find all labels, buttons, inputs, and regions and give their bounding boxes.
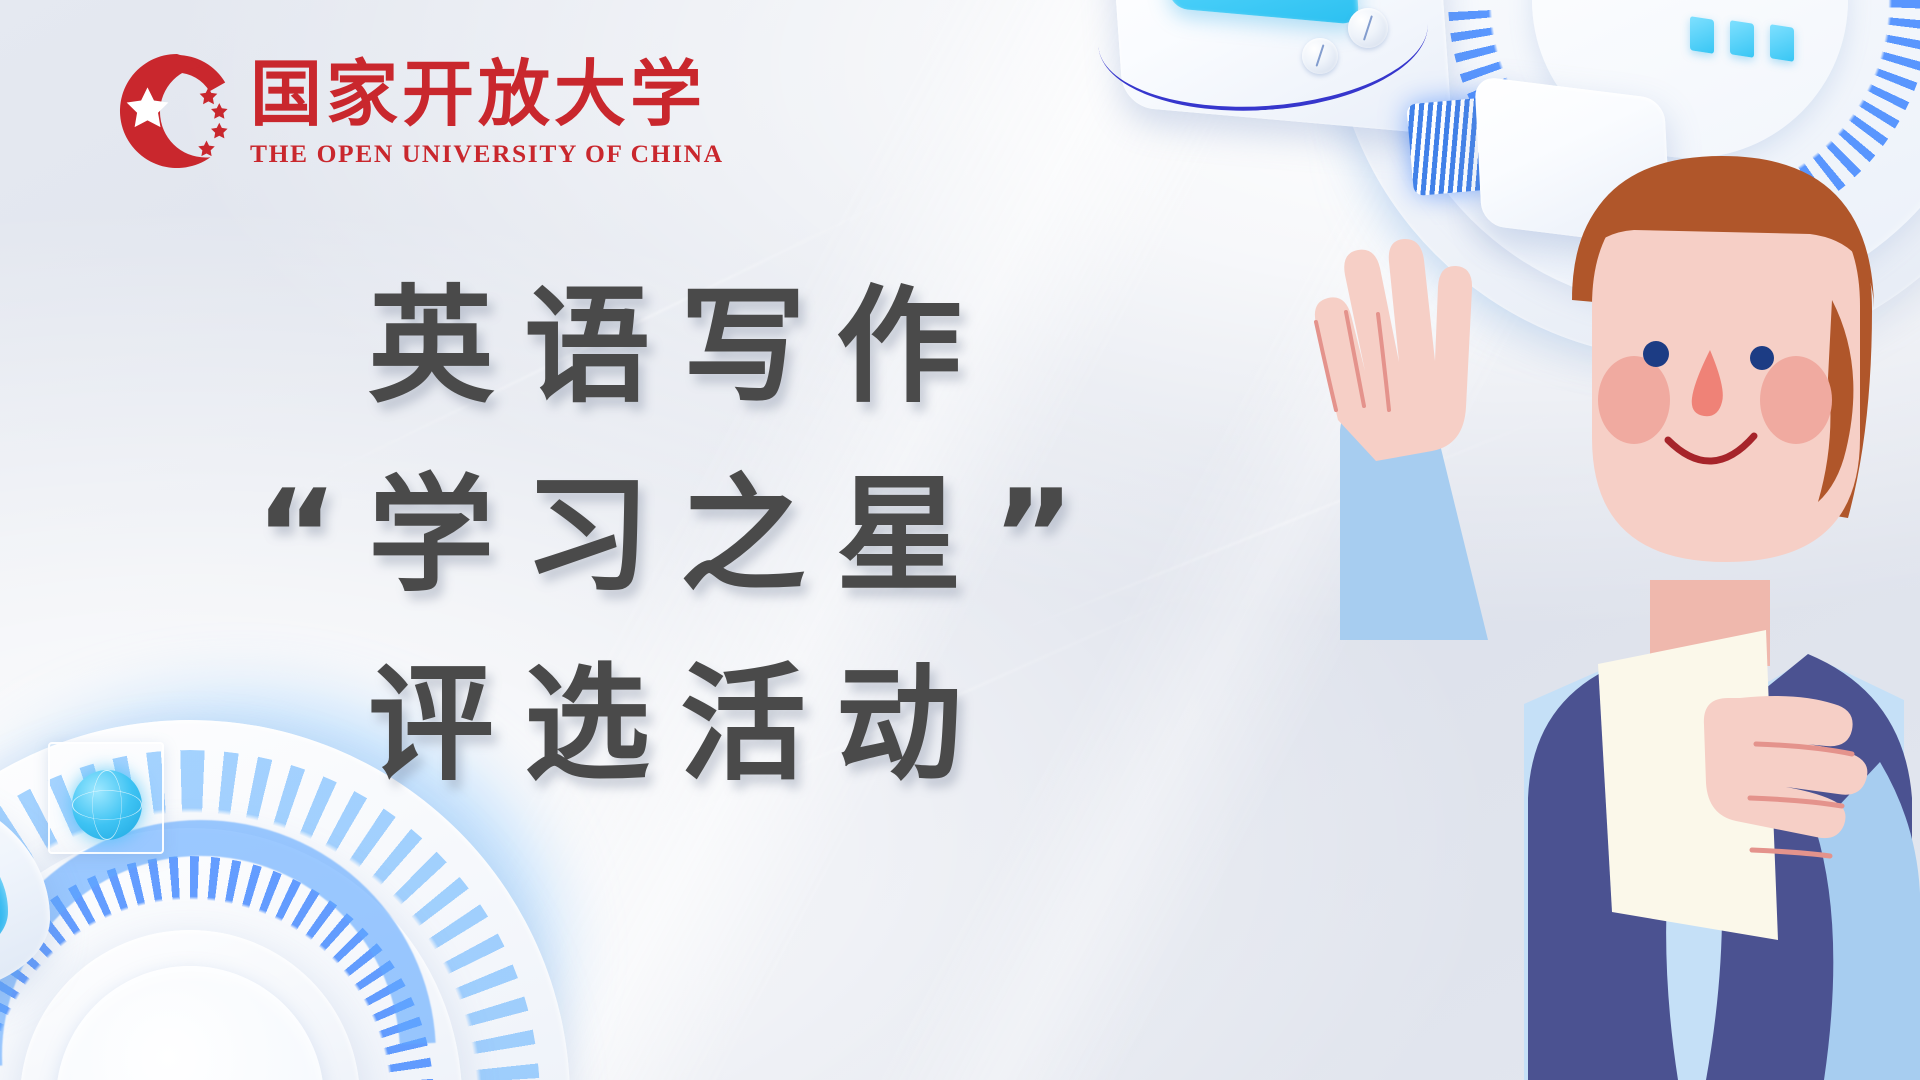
eye-left — [1643, 341, 1669, 367]
eye-right — [1750, 346, 1774, 370]
waving-student-illustration — [1220, 0, 1920, 1080]
page-title: 英语写作 “学习之星” 评选活动 — [0, 252, 1330, 819]
headline-line-1: 英语写作 — [0, 252, 1330, 441]
logo-text-block: 国家开放大学 THE OPEN UNIVERSITY OF CHINA — [250, 52, 724, 169]
crescent-stars-emblem-icon — [118, 52, 236, 170]
promo-banner: 国家开放大学 THE OPEN UNIVERSITY OF CHINA 英语写作… — [0, 0, 1920, 1080]
logo-title-en: THE OPEN UNIVERSITY OF CHINA — [250, 139, 724, 169]
holding-hand — [1704, 696, 1868, 838]
waving-hand — [1315, 239, 1472, 461]
headline-line-3: 评选活动 — [0, 630, 1330, 819]
cheek-left — [1598, 356, 1670, 444]
logo-title-cn: 国家开放大学 — [250, 58, 724, 130]
cheek-right — [1760, 356, 1832, 444]
waving-arm-group — [1315, 239, 1488, 640]
headline-line-2: “学习之星” — [0, 441, 1330, 630]
open-university-of-china-logo[interactable]: 国家开放大学 THE OPEN UNIVERSITY OF CHINA — [118, 52, 724, 170]
